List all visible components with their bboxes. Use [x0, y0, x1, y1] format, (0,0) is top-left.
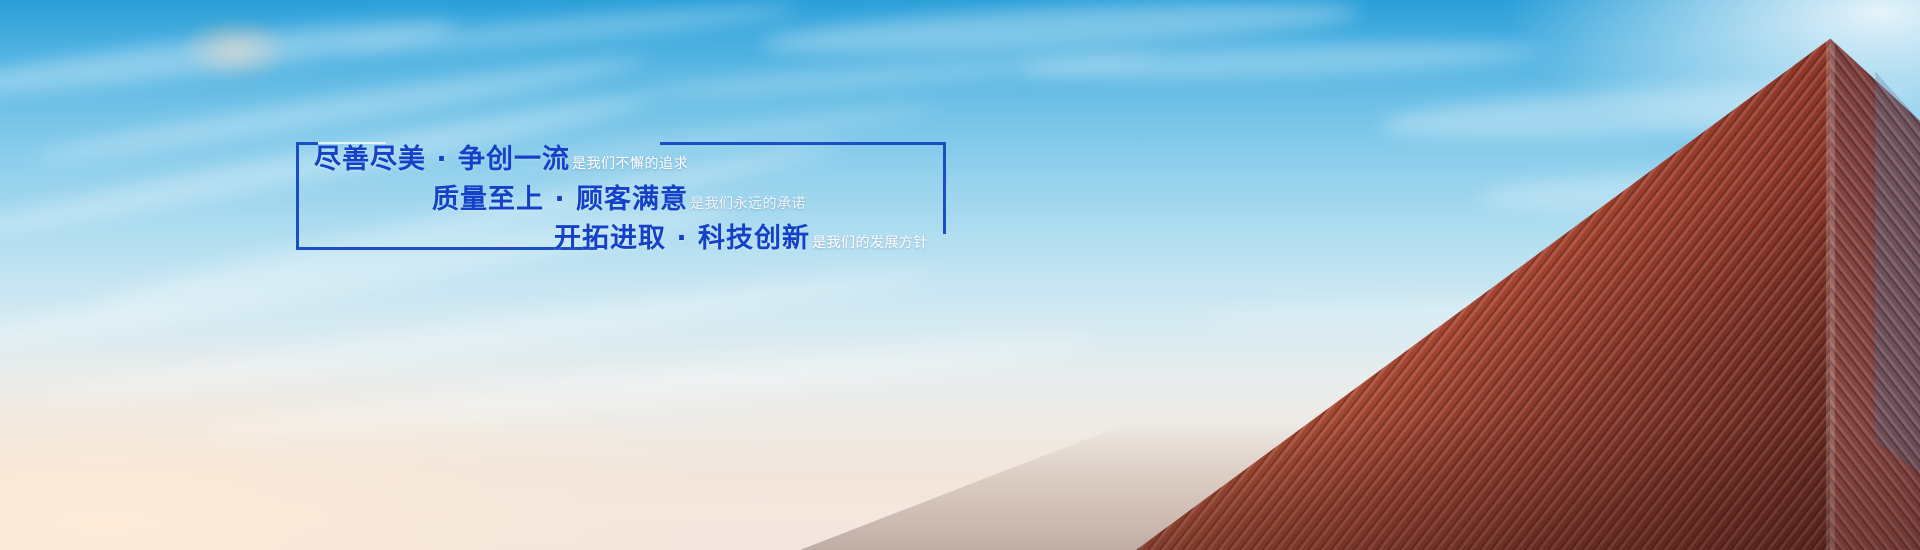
hero-banner: 尽善尽美 · 争创一流 是我们不懈的追求 质量至上 · 顾客满意 是我们永远的承…: [0, 0, 1920, 550]
bracket-frame-right: [943, 142, 946, 234]
slogan-line-1-tail: 是我们不懈的追求: [572, 157, 688, 171]
slogan-line-2: 质量至上 · 顾客满意 是我们永远的承诺: [432, 186, 806, 213]
slogan-line-2-headline: 质量至上 · 顾客满意: [432, 186, 688, 213]
slogan-line-1-headline: 尽善尽美 · 争创一流: [314, 146, 570, 173]
bracket-frame-bottom: [296, 247, 596, 250]
slogan-line-3-tail: 是我们的发展方针: [812, 236, 928, 250]
bracket-frame-top-right: [660, 142, 946, 145]
slogan-line-3-headline: 开拓进取 · 科技创新: [554, 225, 810, 252]
slogan-block: 尽善尽美 · 争创一流 是我们不懈的追求 质量至上 · 顾客满意 是我们永远的承…: [296, 142, 946, 254]
slogan-line-2-tail: 是我们永远的承诺: [690, 197, 806, 211]
slogan-line-3: 开拓进取 · 科技创新 是我们的发展方针: [554, 225, 928, 252]
bracket-frame-left: [296, 142, 299, 250]
tower-geometry: [800, 0, 1920, 550]
slogan-line-1: 尽善尽美 · 争创一流 是我们不懈的追求: [314, 146, 688, 173]
red-tower-building: [800, 0, 1920, 550]
tower-left-louvers: [800, 0, 1920, 550]
